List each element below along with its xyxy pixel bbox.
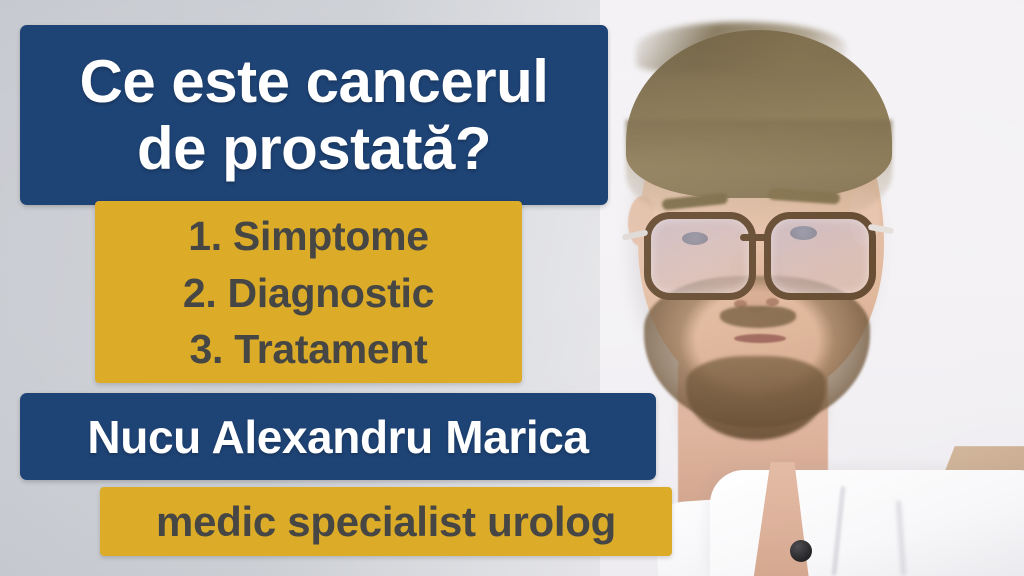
presenter-role: medic specialist urolog xyxy=(156,501,616,543)
title-banner: Ce este cancerul de prostată? xyxy=(20,25,608,205)
list-item: 1. Simptome xyxy=(188,208,428,265)
presenter-name-banner: Nucu Alexandru Marica xyxy=(20,393,656,480)
presenter-name: Nucu Alexandru Marica xyxy=(87,414,588,460)
list-item: 3. Tratament xyxy=(190,321,428,378)
title-line-1: Ce este cancerul xyxy=(80,48,549,115)
topic-list-banner: 1. Simptome 2. Diagnostic 3. Tratament xyxy=(95,201,522,383)
thumbnail-canvas: Ce este cancerul de prostată? 1. Simptom… xyxy=(0,0,1024,576)
title-line-2: de prostată? xyxy=(137,115,491,182)
list-item: 2. Diagnostic xyxy=(183,265,434,322)
presenter-role-banner: medic specialist urolog xyxy=(100,487,672,556)
